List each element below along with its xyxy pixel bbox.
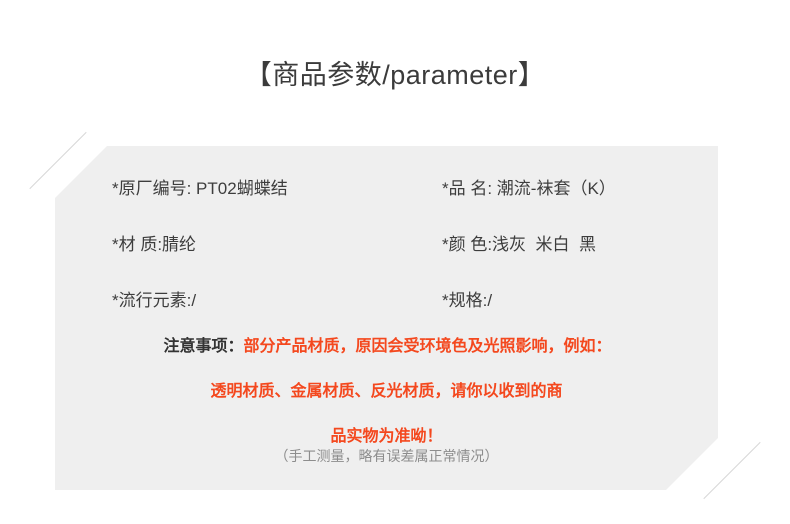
notice-label: 注意事项：	[163, 338, 243, 355]
parameter-row: *材 质:腈纶 *颜 色:浅灰 米白 黑	[55, 232, 718, 258]
notice-text-line-1: 部分产品材质，原因会受环境色及光照影响，例如：	[244, 338, 612, 355]
parameter-fashion-element: *流行元素:/	[112, 288, 196, 314]
parameter-row: *原厂编号: PT02蝴蝶结 *品 名: 潮流-袜套（K）	[55, 176, 718, 202]
notice-text-line-3: 品实物为准呦！	[55, 426, 718, 448]
page-title: 【商品参数/parameter】	[0, 58, 790, 92]
parameter-product-name: *品 名: 潮流-袜套（K）	[442, 176, 616, 202]
notice-block: 注意事项：部分产品材质，原因会受环境色及光照影响，例如： 透明材质、金属材质、反…	[55, 336, 718, 448]
notice-line: 注意事项：部分产品材质，原因会受环境色及光照影响，例如：	[55, 336, 718, 358]
parameter-color: *颜 色:浅灰 米白 黑	[442, 232, 596, 258]
corner-accent-line-bottom-right	[703, 442, 760, 499]
measurement-footnote: （手工测量，略有误差属正常情况）	[55, 446, 718, 466]
product-parameter-page: 【商品参数/parameter】 *原厂编号: PT02蝴蝶结 *品 名: 潮流…	[0, 0, 790, 524]
notice-text-line-2: 透明材质、金属材质、反光材质，请你以收到的商	[55, 381, 718, 403]
parameter-specification: *规格:/	[442, 288, 492, 314]
parameter-row: *流行元素:/ *规格:/	[55, 288, 718, 314]
parameter-card: *原厂编号: PT02蝴蝶结 *品 名: 潮流-袜套（K） *材 质:腈纶 *颜…	[55, 146, 718, 490]
parameter-factory-code: *原厂编号: PT02蝴蝶结	[112, 176, 288, 202]
parameter-material: *材 质:腈纶	[112, 232, 196, 258]
